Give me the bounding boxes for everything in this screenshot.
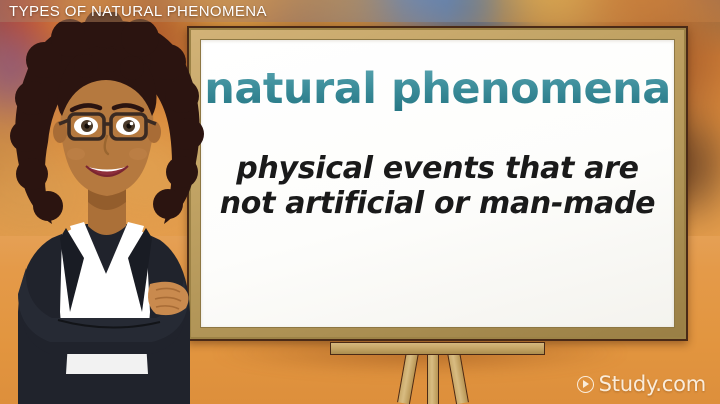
cheek-right <box>129 148 147 160</box>
whiteboard: natural phenomena physical events that a… <box>187 26 688 341</box>
page-title: TYPES OF NATURAL PHENOMENA <box>0 3 267 20</box>
easel-leg-center <box>427 352 439 404</box>
definition-line-2: not artificial or man-made <box>213 187 662 222</box>
video-frame: natural phenomena physical events that a… <box>0 0 720 404</box>
logo-text: Study.com <box>599 372 706 396</box>
video-title-bar: TYPES OF NATURAL PHENOMENA <box>0 0 720 22</box>
whiteboard-definition: physical events that are not artificial … <box>213 152 662 222</box>
easel-tray <box>330 342 545 355</box>
whiteboard-heading: natural phenomena <box>201 68 674 111</box>
presenter-head <box>10 12 204 224</box>
play-circle-icon <box>577 376 594 393</box>
whiteboard-surface: natural phenomena physical events that a… <box>200 39 675 328</box>
cheek-left <box>67 148 85 160</box>
study-com-logo[interactable]: Study.com <box>577 372 706 396</box>
definition-line-1: physical events that are <box>213 152 662 187</box>
presenter-illustration <box>0 12 215 404</box>
